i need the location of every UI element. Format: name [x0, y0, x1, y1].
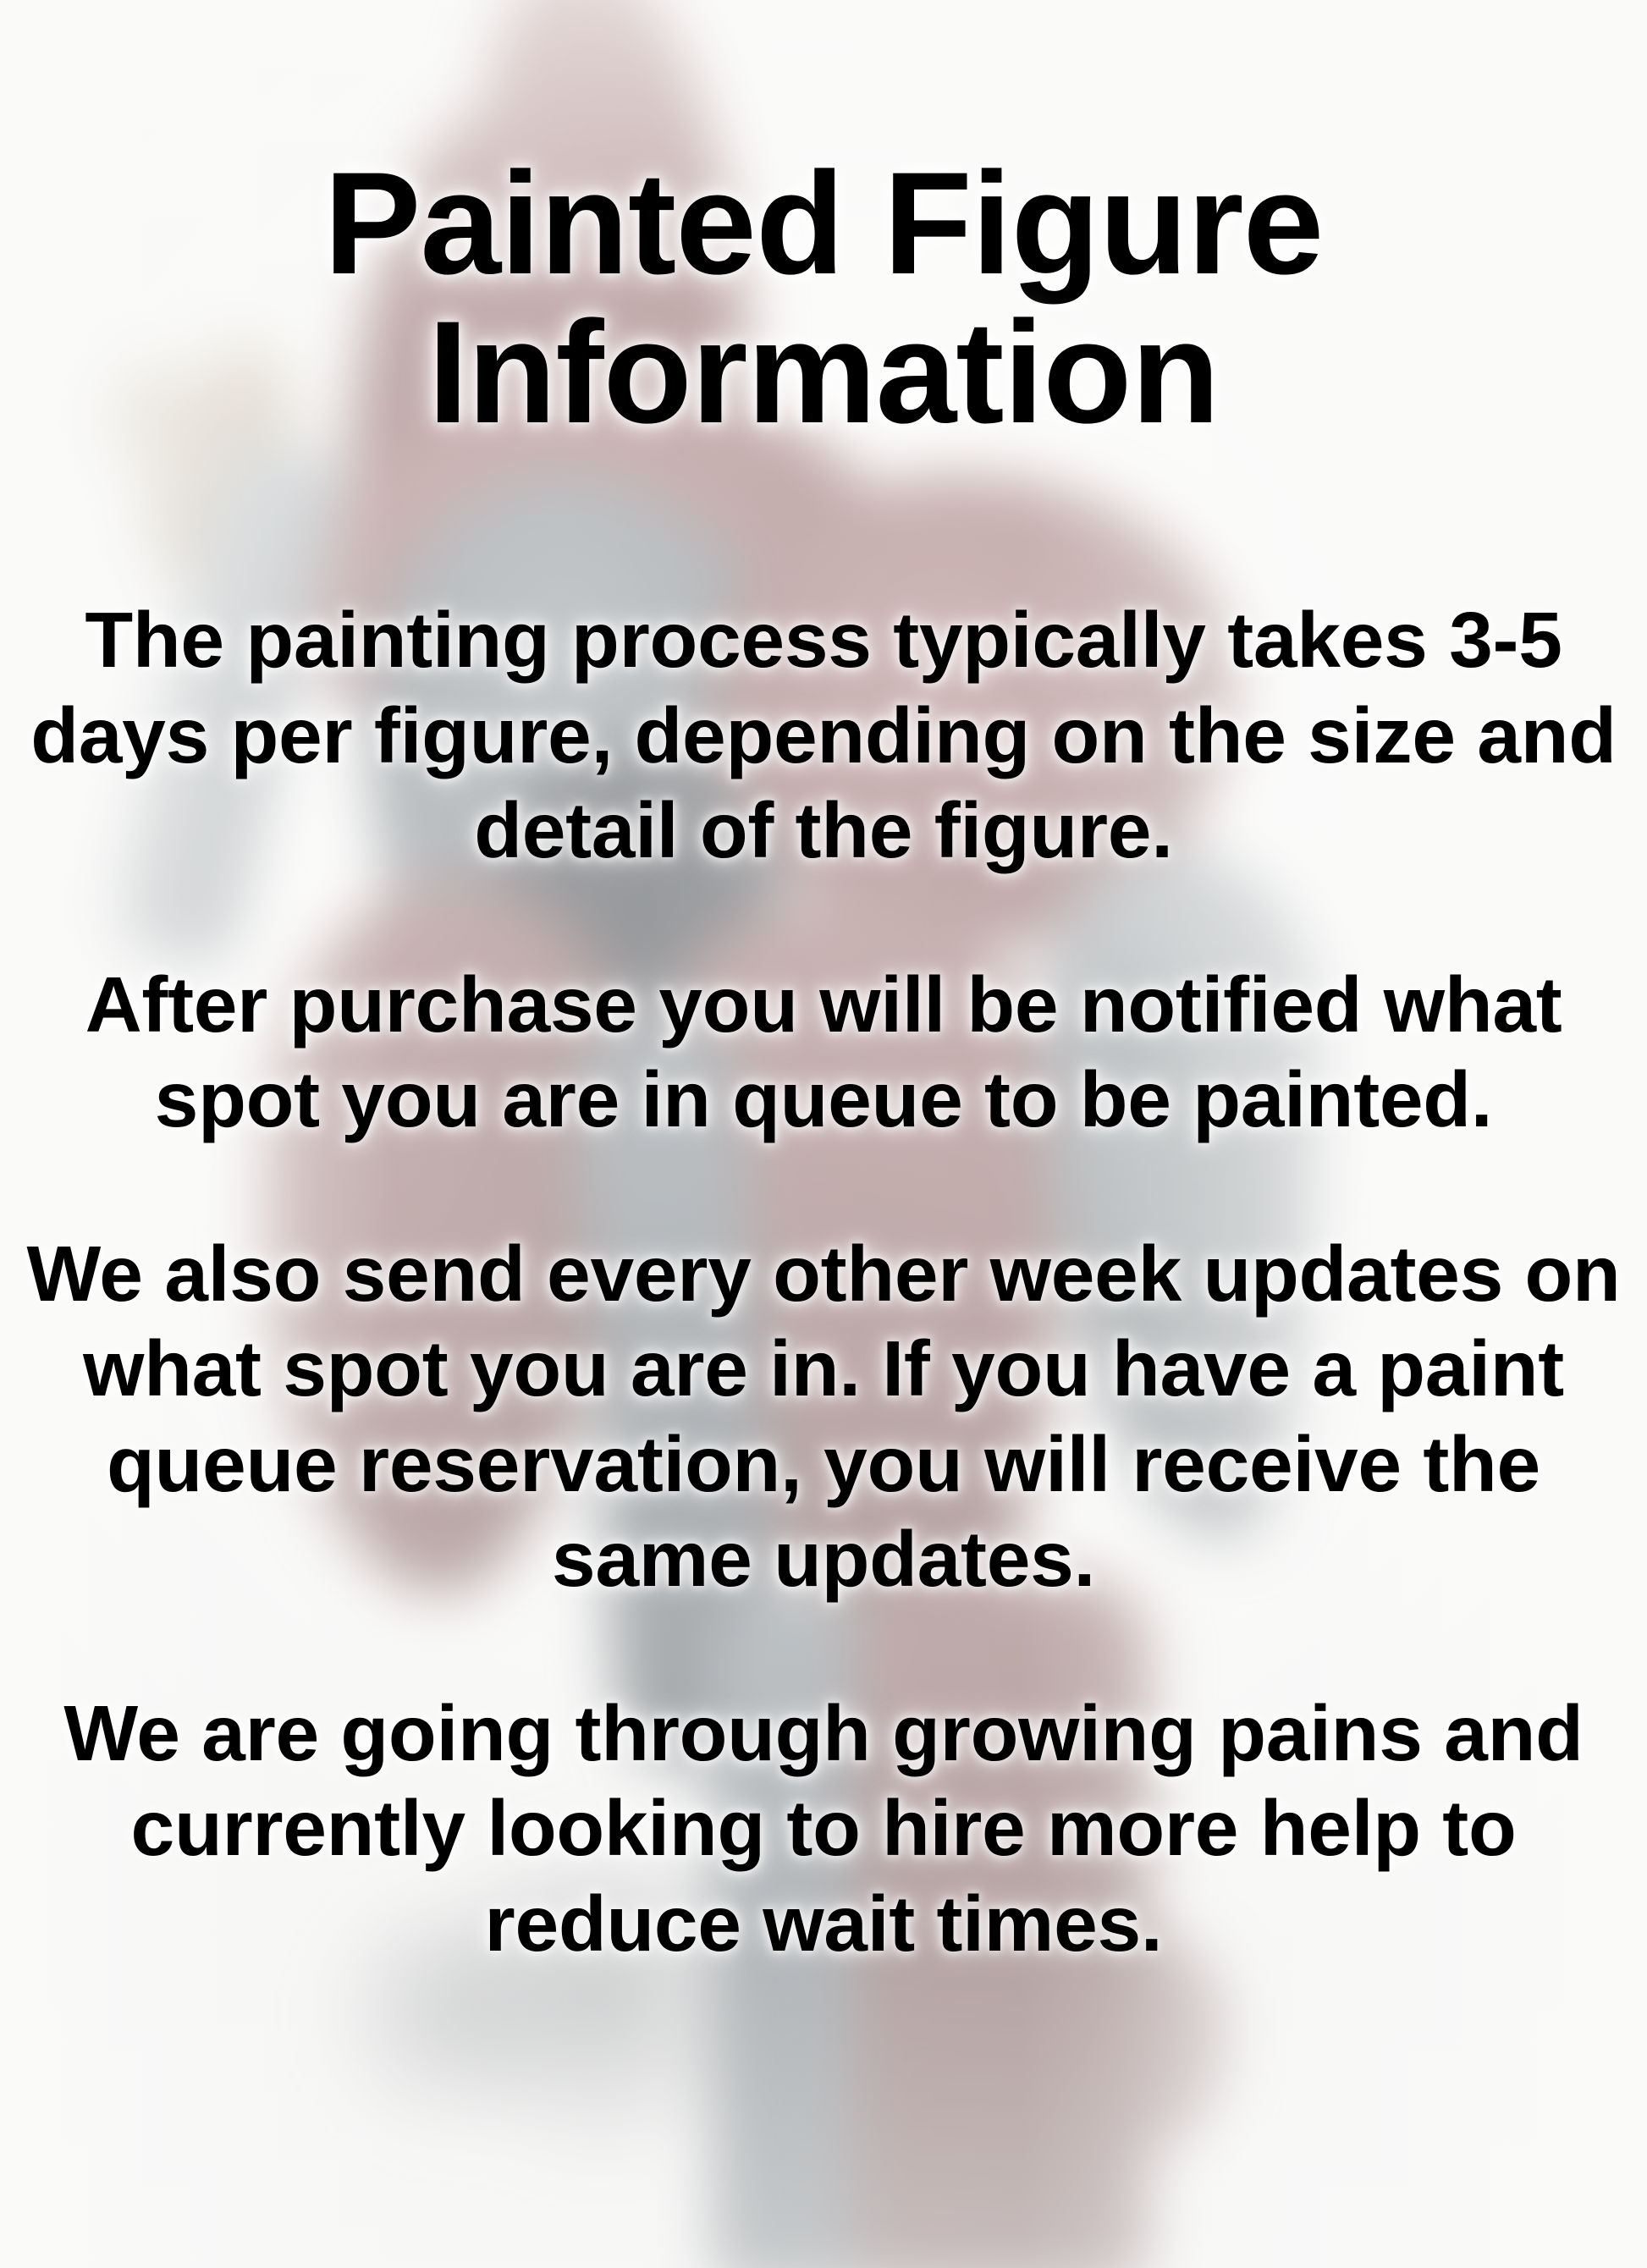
painted-figure-information-poster: Painted Figure Information The painting …	[0, 0, 1647, 2268]
poster-content: Painted Figure Information The painting …	[0, 0, 1647, 2268]
paragraph-biweekly-updates: We also send every other week updates on…	[24, 1226, 1623, 1607]
page-title: Painted Figure Information	[0, 150, 1647, 447]
poster-body-text: The painting process typically takes 3-5…	[0, 592, 1647, 1971]
paragraph-growing-pains-hiring: We are going through growing pains and c…	[24, 1686, 1623, 1972]
paragraph-painting-process-duration: The painting process typically takes 3-5…	[24, 592, 1623, 878]
paragraph-queue-notification: After purchase you will be notified what…	[24, 957, 1623, 1148]
